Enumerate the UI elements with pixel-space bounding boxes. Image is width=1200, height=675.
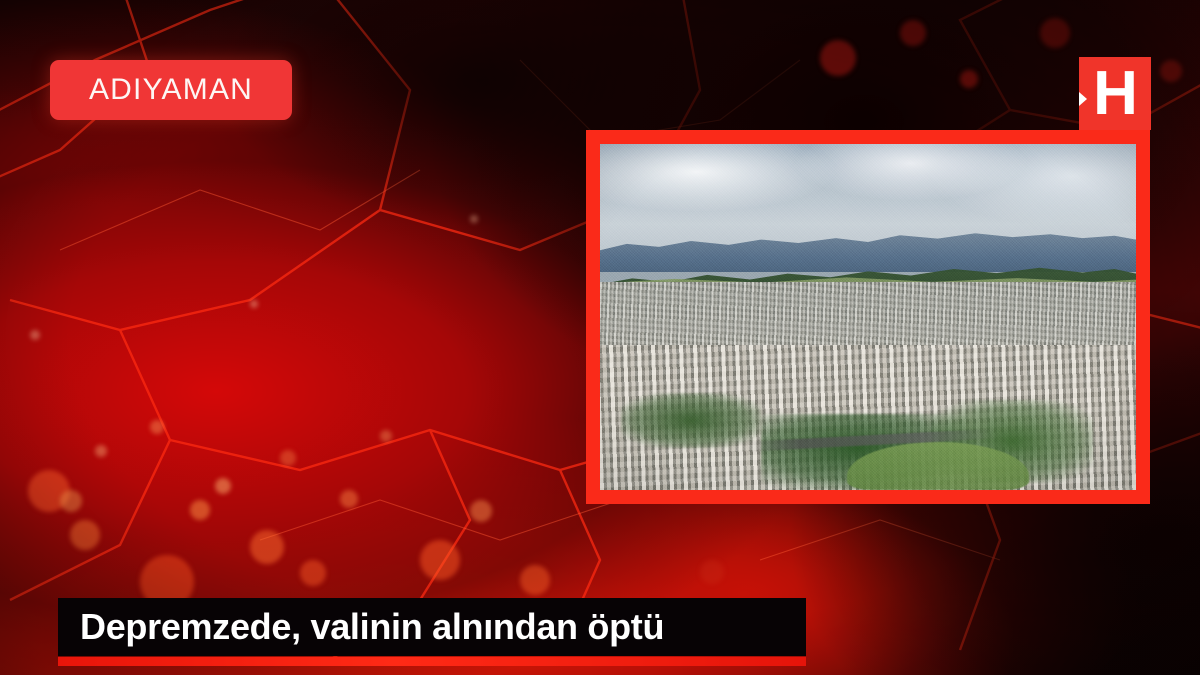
h-logo-icon: H: [1079, 57, 1151, 130]
news-card: ADIYAMAN H Depremzede, valinin alnından …: [0, 0, 1200, 675]
photo-edge-shading: [600, 144, 1136, 490]
h-logo-notch: [1079, 92, 1087, 106]
headline-text: Depremzede, valinin alnından öptü: [58, 606, 664, 648]
city-aerial-photo: [600, 144, 1136, 490]
h-logo-letter: H: [1079, 57, 1151, 130]
photo-frame: [586, 130, 1150, 504]
headline-underline: [58, 657, 806, 666]
location-badge-label: ADIYAMAN: [89, 73, 253, 107]
headline-bar: Depremzede, valinin alnından öptü: [58, 598, 806, 656]
location-badge: ADIYAMAN: [50, 60, 292, 120]
